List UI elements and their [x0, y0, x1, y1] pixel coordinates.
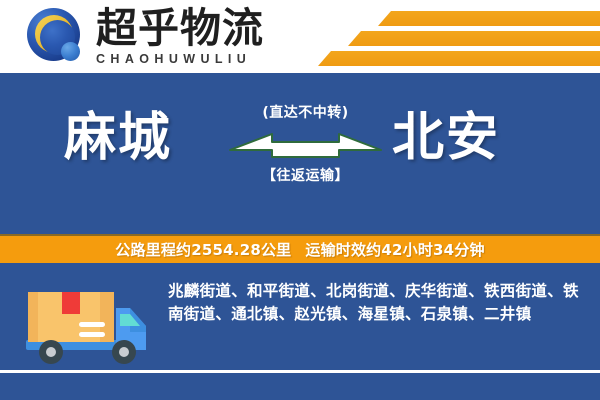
brand-name-en: CHAOHUWULIU — [96, 52, 271, 66]
destination-city-name: 北安 — [392, 108, 500, 168]
double-headed-arrow-icon — [228, 126, 383, 160]
round-trip-note: 【往返运输】 — [228, 165, 383, 185]
logo-accent-dot — [61, 42, 80, 61]
direct-shipping-note: (直达不中转) — [228, 102, 383, 122]
speed-stripe-3 — [318, 51, 600, 66]
speed-stripes-icon — [300, 0, 600, 73]
banner-header: 超乎物流 CHAOHUWULIU — [0, 0, 600, 73]
route-section: 麻城 (直达不中转) 【往返运输】 北安 — [0, 76, 600, 234]
origin-city-name: 麻城 — [64, 108, 172, 168]
logistics-route-banner: 超乎物流 CHAOHUWULIU 麻城 (直达不中转) 【往返运输】 北安 公路… — [0, 0, 600, 400]
speed-stripe-1 — [378, 11, 600, 26]
covered-districts-text: 兆麟街道、和平街道、北岗街道、庆华街道、铁西街道、铁南街道、通北镇、赵光镇、海星… — [168, 280, 586, 325]
duration-text: 运输时效约42小时34分钟 — [305, 239, 484, 260]
route-info-bar: 公路里程约2554.28公里 运输时效约42小时34分钟 — [0, 234, 600, 263]
coverage-section: 兆麟街道、和平街道、北岗街道、庆华街道、铁西街道、铁南街道、通北镇、赵光镇、海星… — [0, 266, 600, 400]
brand-wordmark: 超乎物流 CHAOHUWULIU — [96, 6, 271, 66]
bottom-divider — [0, 370, 600, 373]
speed-stripe-2 — [348, 31, 600, 46]
brand-name-cn: 超乎物流 — [96, 6, 271, 50]
delivery-truck-icon — [22, 278, 158, 370]
route-middle-group: (直达不中转) 【往返运输】 — [228, 102, 383, 185]
circle-crescent-logo-icon — [27, 8, 85, 66]
distance-text: 公路里程约2554.28公里 — [115, 239, 291, 260]
